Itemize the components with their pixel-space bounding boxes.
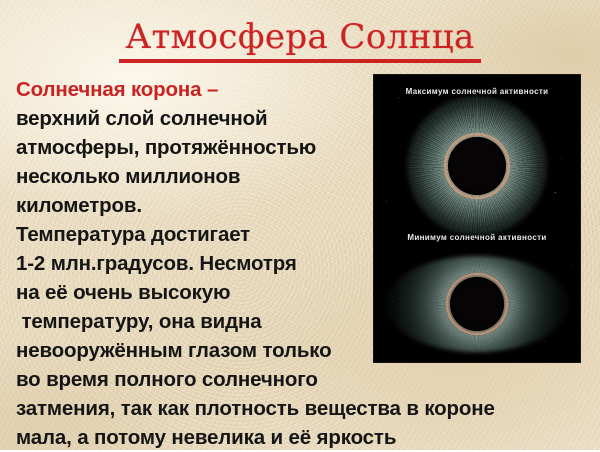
slide-canvas: Атмосфера Солнца Солнечная корона – верх… — [0, 0, 600, 450]
body-line: мала, а потому невелика и её яркость — [16, 423, 596, 452]
lunar-disk-icon — [448, 137, 506, 195]
title-block: Атмосфера Солнца — [0, 18, 600, 63]
body-line: затмения, так как плотность вещества в к… — [16, 394, 596, 423]
eclipse-image-panel: Максимум солнечной активности Минимум со… — [374, 75, 580, 362]
body-line: во время полного солнечного — [16, 365, 596, 394]
page-title: Атмосфера Солнца — [119, 18, 480, 63]
solar-corona-maximum-figure — [374, 103, 580, 228]
eclipse-caption-minimum: Минимум солнечной активности — [374, 233, 580, 242]
eclipse-caption-maximum: Максимум солнечной активности — [374, 87, 580, 96]
solar-corona-minimum-figure — [374, 249, 580, 359]
lunar-disk-icon — [450, 277, 504, 331]
